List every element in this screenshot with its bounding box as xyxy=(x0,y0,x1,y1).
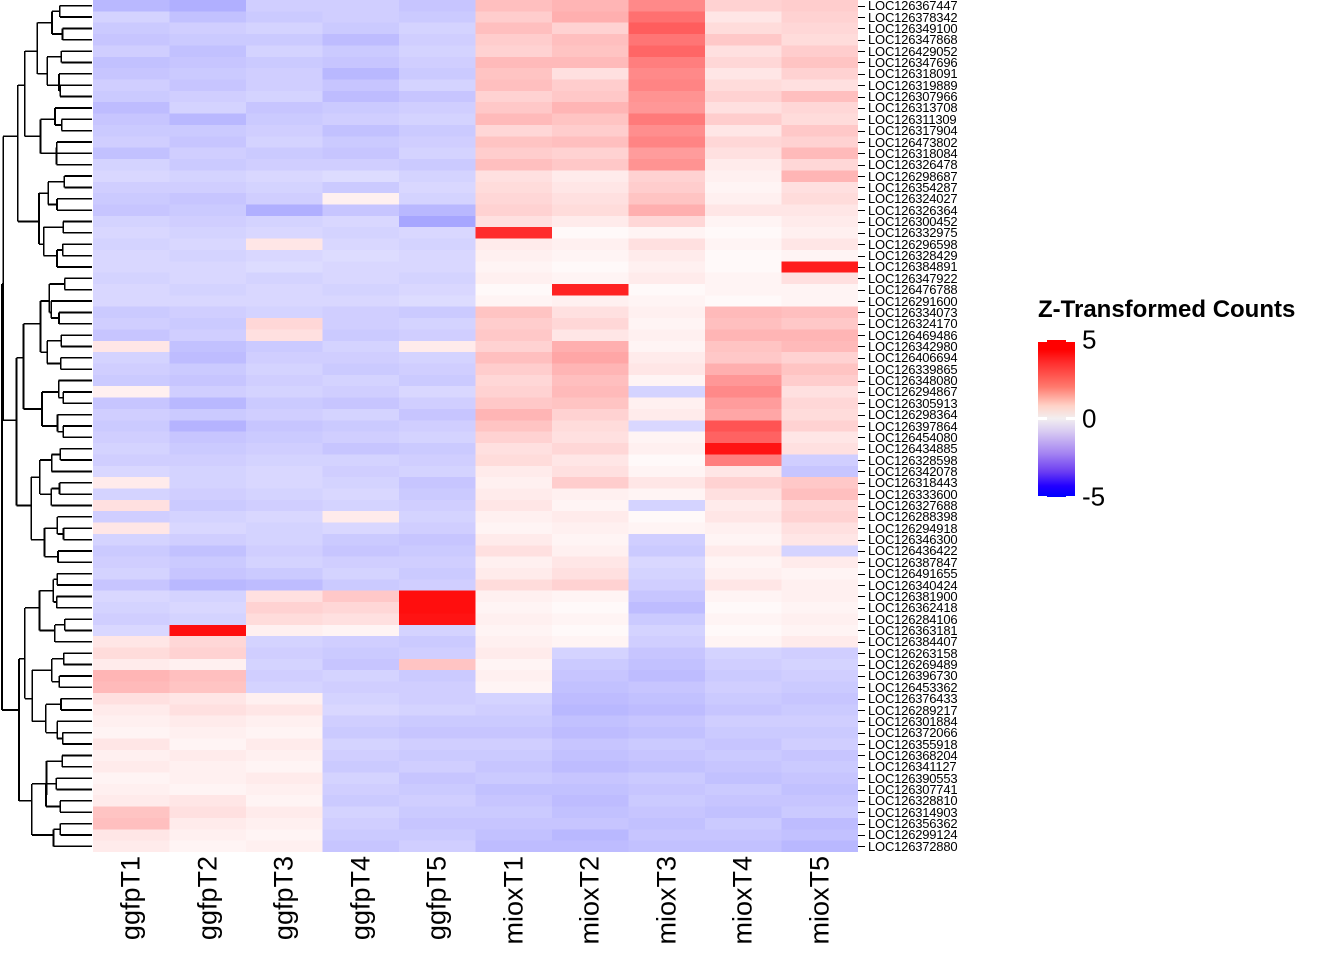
row-tick xyxy=(858,256,865,257)
column-label-ggfpT3: ggfpT3 xyxy=(246,852,323,960)
column-label-text: ggfpT5 xyxy=(424,856,451,940)
row-tick xyxy=(858,596,865,597)
column-label-text: ggfpT4 xyxy=(347,856,374,940)
row-tick xyxy=(858,199,865,200)
heatmap-grid[interactable] xyxy=(93,0,858,852)
color-legend: Z-Transformed Counts 50-5 xyxy=(1038,296,1338,511)
row-tick xyxy=(858,6,865,7)
column-label-mioxT5: mioxT5 xyxy=(782,852,859,960)
column-label-axis: ggfpT1ggfpT2ggfpT3ggfpT4ggfpT5mioxT1miox… xyxy=(93,852,858,960)
row-tick xyxy=(858,119,865,120)
row-tick xyxy=(858,290,865,291)
row-tick xyxy=(858,28,865,29)
row-tick xyxy=(858,278,865,279)
legend-title: Z-Transformed Counts xyxy=(1038,296,1295,324)
column-label-text: ggfpT2 xyxy=(194,856,221,940)
row-tick xyxy=(858,210,865,211)
row-tick xyxy=(858,574,865,575)
colorbar-tick-label: -5 xyxy=(1082,482,1105,513)
heatmap-canvas[interactable] xyxy=(93,0,858,852)
row-tick xyxy=(858,312,865,313)
column-label-mioxT1: mioxT1 xyxy=(476,852,553,960)
row-label-axis: LOC126367447LOC126378342LOC126349100LOC1… xyxy=(858,0,1038,852)
row-tick xyxy=(858,630,865,631)
row-tick xyxy=(858,471,865,472)
column-label-ggfpT1: ggfpT1 xyxy=(93,852,170,960)
row-tick xyxy=(858,790,865,791)
row-tick xyxy=(858,699,865,700)
row-label: LOC126372880 xyxy=(868,840,957,853)
row-tick xyxy=(858,381,865,382)
row-tick xyxy=(858,346,865,347)
row-tick xyxy=(858,415,865,416)
colorbar-tick-label: 5 xyxy=(1082,325,1096,356)
row-tick xyxy=(858,17,865,18)
row-tick xyxy=(858,687,865,688)
row-tick xyxy=(858,437,865,438)
column-label-text: ggfpT1 xyxy=(118,856,145,940)
row-tick xyxy=(858,392,865,393)
row-tick xyxy=(858,494,865,495)
row-tick xyxy=(858,62,865,63)
colorbar-tick xyxy=(1066,339,1075,342)
row-tick xyxy=(858,460,865,461)
row-tick xyxy=(858,97,865,98)
row-tick xyxy=(858,517,865,518)
row-tick xyxy=(858,778,865,779)
row-tick xyxy=(858,676,865,677)
row-tick xyxy=(858,653,865,654)
row-tick xyxy=(858,244,865,245)
row-tick xyxy=(858,108,865,109)
row-tick xyxy=(858,619,865,620)
row-tick xyxy=(858,74,865,75)
row-tick xyxy=(858,721,865,722)
row-tick xyxy=(858,528,865,529)
column-label-text: mioxT3 xyxy=(653,856,680,945)
row-tick xyxy=(858,165,865,166)
row-tick xyxy=(858,744,865,745)
row-tick xyxy=(858,369,865,370)
row-tick xyxy=(858,131,865,132)
row-tick xyxy=(858,267,865,268)
colorbar-tick xyxy=(1038,339,1047,342)
row-tick xyxy=(858,846,865,847)
colorbar-tick xyxy=(1066,496,1075,499)
column-label-text: mioxT5 xyxy=(806,856,833,945)
row-tick xyxy=(858,358,865,359)
row-tick xyxy=(858,665,865,666)
row-tick xyxy=(858,642,865,643)
row-tick xyxy=(858,222,865,223)
row-dendrogram xyxy=(0,0,93,852)
column-label-ggfpT2: ggfpT2 xyxy=(170,852,247,960)
row-tick xyxy=(858,824,865,825)
column-label-mioxT2: mioxT2 xyxy=(552,852,629,960)
dendrogram-svg xyxy=(0,0,93,852)
row-tick xyxy=(858,335,865,336)
row-tick xyxy=(858,51,865,52)
column-label-text: ggfpT3 xyxy=(271,856,298,940)
row-tick xyxy=(858,233,865,234)
colorbar-tick xyxy=(1066,417,1075,420)
row-tick xyxy=(858,176,865,177)
column-label-mioxT3: mioxT3 xyxy=(629,852,706,960)
column-label-mioxT4: mioxT4 xyxy=(705,852,782,960)
row-tick xyxy=(858,551,865,552)
column-label-text: mioxT4 xyxy=(730,856,757,945)
row-tick xyxy=(858,403,865,404)
row-tick xyxy=(858,324,865,325)
row-tick xyxy=(858,562,865,563)
row-tick xyxy=(858,483,865,484)
row-tick xyxy=(858,40,865,41)
row-tick xyxy=(858,835,865,836)
row-tick xyxy=(858,187,865,188)
row-tick xyxy=(858,812,865,813)
row-tick xyxy=(858,733,865,734)
row-tick xyxy=(858,767,865,768)
row-tick xyxy=(858,142,865,143)
row-tick xyxy=(858,85,865,86)
colorbar-tick-label: 0 xyxy=(1082,403,1096,434)
row-tick xyxy=(858,608,865,609)
row-tick xyxy=(858,540,865,541)
row-tick xyxy=(858,449,865,450)
row-tick xyxy=(858,710,865,711)
row-tick xyxy=(858,506,865,507)
row-tick xyxy=(858,301,865,302)
colorbar-tick xyxy=(1038,496,1047,499)
column-label-text: mioxT2 xyxy=(577,856,604,945)
row-tick xyxy=(858,426,865,427)
row-tick xyxy=(858,755,865,756)
row-tick xyxy=(858,801,865,802)
row-tick xyxy=(858,153,865,154)
column-label-ggfpT4: ggfpT4 xyxy=(323,852,400,960)
row-tick xyxy=(858,585,865,586)
column-label-text: mioxT1 xyxy=(500,856,527,945)
colorbar-tick xyxy=(1038,417,1047,420)
column-label-ggfpT5: ggfpT5 xyxy=(399,852,476,960)
